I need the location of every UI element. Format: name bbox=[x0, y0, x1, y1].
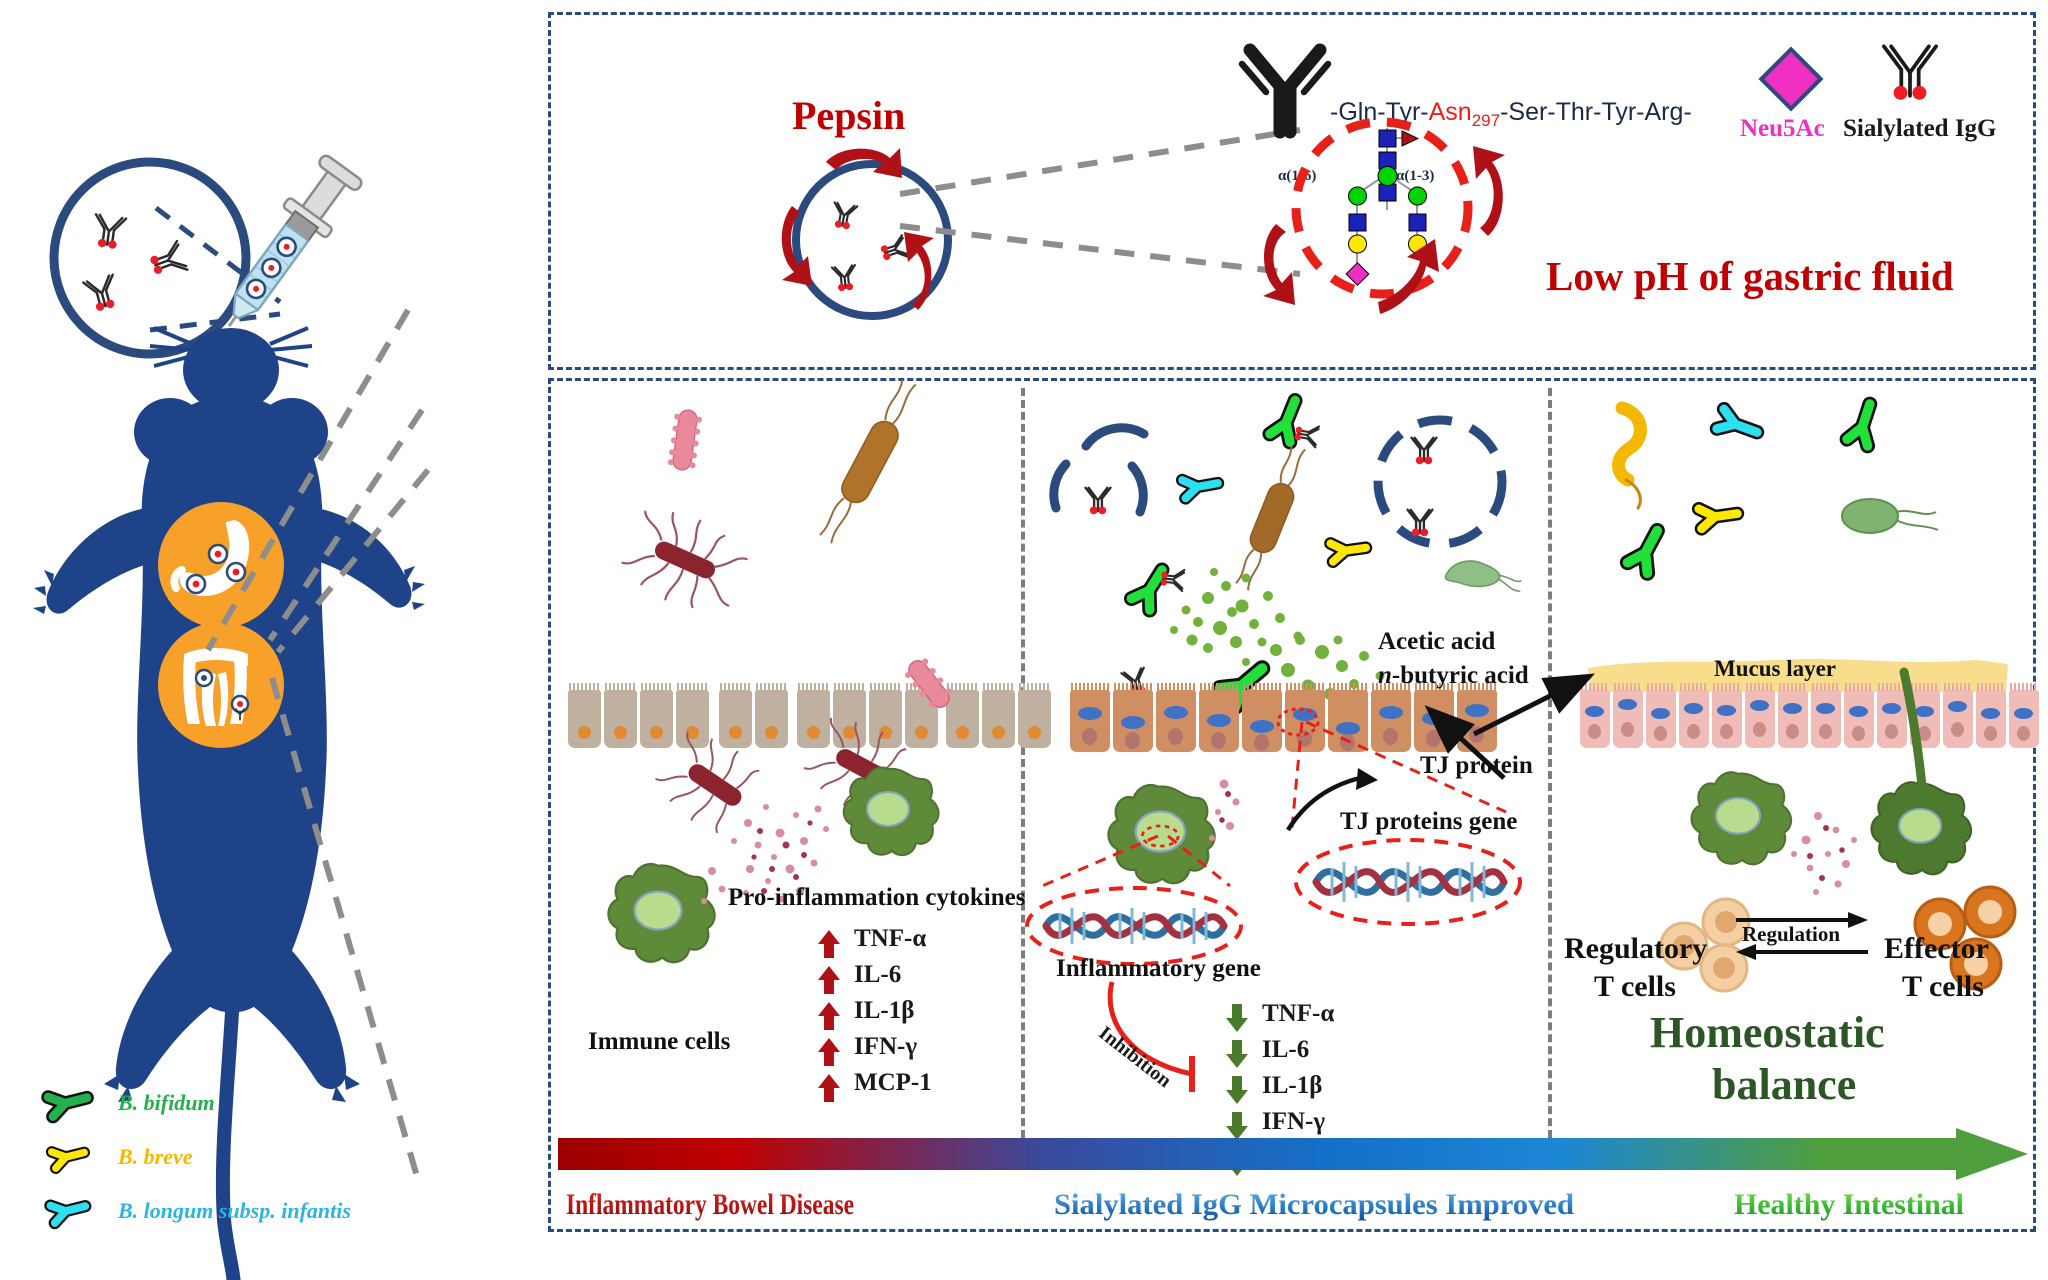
effector-t-cells-label-line1: Effector bbox=[1884, 932, 1989, 966]
mucus-layer-label: Mucus layer bbox=[1714, 656, 1836, 682]
acid-attack-indicator bbox=[1230, 108, 1550, 318]
regulatory-t-cells-label-line1: Regulatory bbox=[1564, 932, 1707, 966]
healthy-epithelium bbox=[1580, 690, 2042, 748]
low-ph-label: Low pH of gastric fluid bbox=[1546, 252, 1954, 300]
homeostatic-balance-line1: Homeostatic bbox=[1650, 1010, 1885, 1057]
progression-track-arrow bbox=[556, 1128, 2030, 1182]
scfa-label-line1: Acetic acid bbox=[1378, 628, 1495, 656]
pepsin-label: Pepsin bbox=[792, 92, 905, 139]
scfa-n-italic: n bbox=[1378, 662, 1392, 689]
neu5ac-legend-label: Neu5Ac bbox=[1740, 115, 1825, 143]
svg-text:Sialylated IgG Microcapsules I: Sialylated IgG Microcapsules Improved bbox=[1054, 1188, 1574, 1221]
cytokine-left-0: TNF-α bbox=[854, 925, 926, 953]
ibd-subepithelial-cells bbox=[600, 745, 1020, 1005]
cytokine-up-arrows-left bbox=[816, 928, 846, 1128]
effector-t-cells-label-line2: T cells bbox=[1902, 970, 1984, 1004]
panel-divider-right bbox=[1548, 388, 1552, 1150]
regulatory-t-cells-label-line2: T cells bbox=[1594, 970, 1676, 1004]
pro-inflammation-cytokines-heading: Pro-inflammation cytokines bbox=[728, 884, 1025, 912]
inflammatory-gene-leader bbox=[1034, 830, 1244, 900]
mouse-panel-connectors bbox=[150, 300, 570, 1280]
cytokine-middle-2: IL-1β bbox=[1262, 1072, 1322, 1100]
neu5ac-legend-icon bbox=[1756, 44, 1826, 114]
panel-divider-left bbox=[1021, 388, 1025, 1150]
cytokine-middle-0: TNF-α bbox=[1262, 1000, 1334, 1028]
ibd-epithelium bbox=[568, 690, 1054, 748]
regulation-label: Regulation bbox=[1742, 922, 1840, 947]
progression-track-labels: Inflammatory Bowel Disease Sialylated Ig… bbox=[556, 1180, 2036, 1230]
homeostatic-balance-line2: balance bbox=[1712, 1062, 1856, 1109]
bacteria-legend-label-1: B. breve bbox=[118, 1144, 193, 1170]
cytokine-left-4: MCP-1 bbox=[854, 1069, 932, 1097]
right-microbiota bbox=[1570, 398, 2030, 598]
immune-cells-label: Immune cells bbox=[588, 1028, 730, 1056]
panel-link-connector bbox=[500, 360, 570, 400]
cytokine-left-3: IFN-γ bbox=[854, 1033, 917, 1061]
bacteria-legend-label-0: B. bifidum bbox=[118, 1090, 215, 1116]
sialylated-igg-legend-label: Sialylated IgG bbox=[1843, 115, 1997, 143]
svg-text:Healthy Intestinal: Healthy Intestinal bbox=[1734, 1188, 1964, 1221]
invading-pathogen bbox=[884, 644, 974, 734]
tj-gene-curved-arrow bbox=[1274, 760, 1394, 840]
epithelium-transfer-arrow bbox=[1470, 662, 1600, 742]
tj-gene-dna bbox=[1288, 824, 1528, 944]
cytokine-middle-1: IL-6 bbox=[1262, 1036, 1309, 1064]
sialylated-igg-legend-icon bbox=[1870, 46, 1950, 116]
cytokine-left-2: IL-1β bbox=[854, 997, 914, 1025]
svg-text:Inflammatory Bowel Disease: Inflammatory Bowel Disease bbox=[566, 1188, 854, 1221]
cytokine-left-1: IL-6 bbox=[854, 961, 901, 989]
bacteria-legend-label-2: B. longum subsp. infantis bbox=[118, 1198, 351, 1224]
